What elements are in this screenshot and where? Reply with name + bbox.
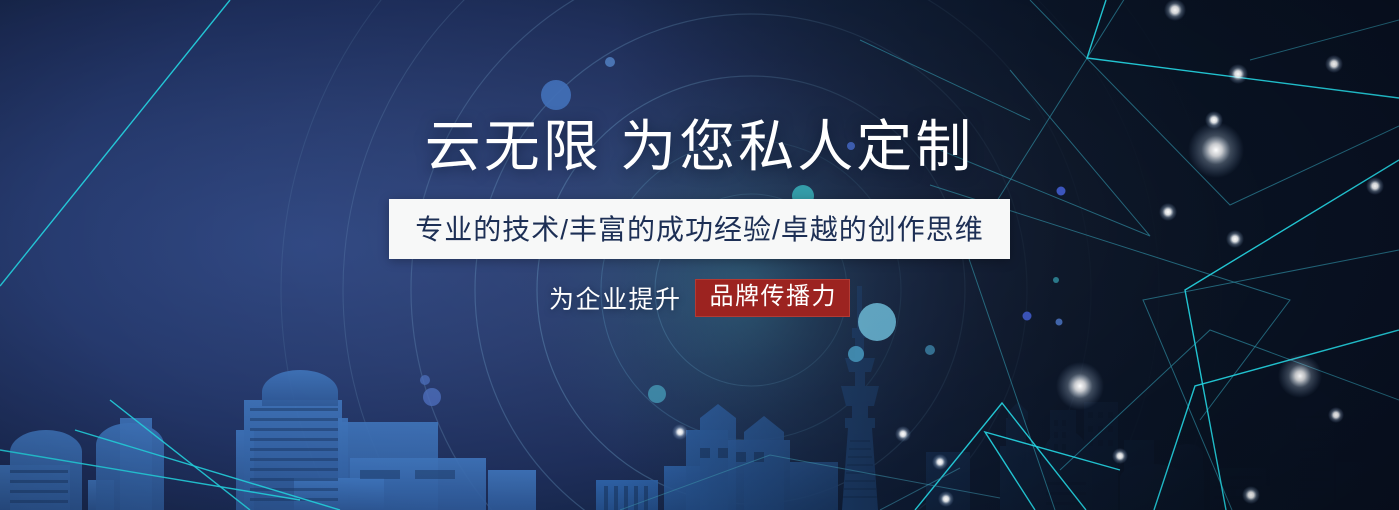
vignette-overlay	[0, 0, 1399, 510]
hero-banner: 云无限 为您私人定制 专业的技术/丰富的成功经验/卓越的创作思维 为企业提升 品…	[0, 0, 1399, 510]
